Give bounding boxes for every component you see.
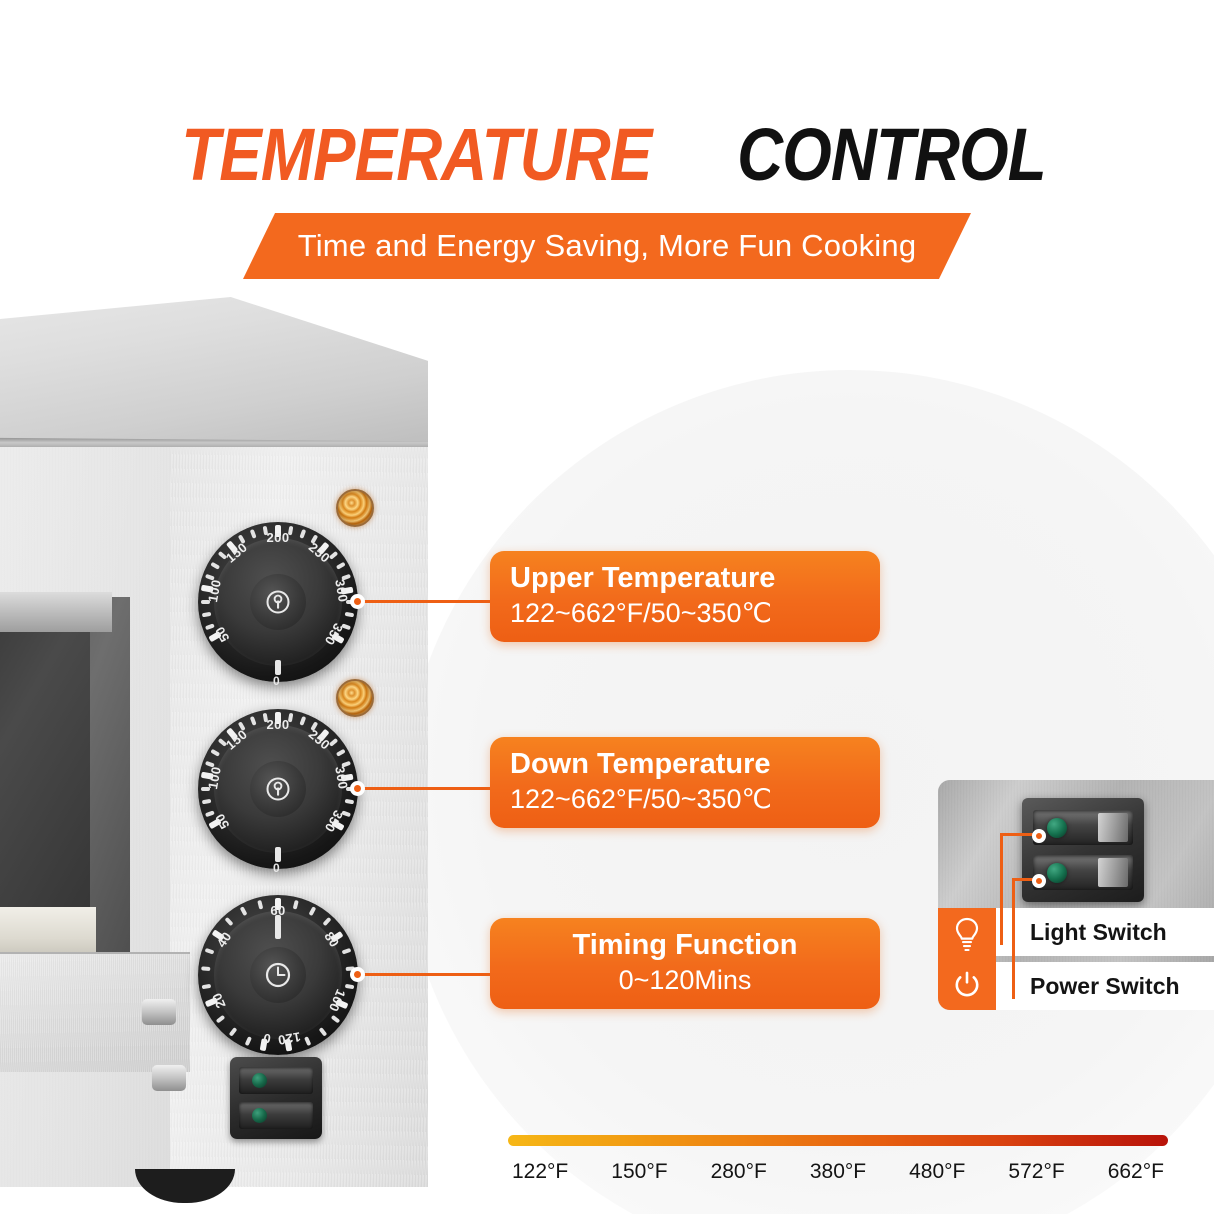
subtitle-text: Time and Energy Saving, More Fun Cooking [243,213,971,279]
callout-upper-temperature: Upper Temperature 122~662°F/50~350℃ [490,551,880,642]
knob-tick [225,917,234,926]
knob-tick [202,799,212,805]
inset-lead-h-power [1012,878,1034,881]
upper-temperature-knob[interactable]: 0 50100150200250300350 [198,522,358,682]
knob-scale-number: 300 [332,765,351,790]
oven-rocker-switch-assembly[interactable] [230,1057,322,1139]
temperature-scale-tick: 150°F [611,1160,667,1184]
power-switch-label-row: Power Switch [996,962,1214,1010]
lead-dot-upper [350,594,365,609]
inset-lead-v-light [1000,833,1003,945]
callout-subtitle: 122~662°F/50~350℃ [510,782,860,816]
knob-pointer [275,847,281,862]
knob-tick [229,1027,238,1037]
title-part-temperature: TEMPERATURE [181,112,651,198]
lead-line-down [357,787,493,790]
temperature-scale-tick: 122°F [512,1160,568,1184]
power-switch-label: Power Switch [1030,973,1180,1000]
knob-tick [240,906,248,916]
knob-scale-number: 0 [262,1030,272,1046]
callout-title: Timing Function [510,927,860,963]
oven-door-hinge [152,1065,186,1091]
callout-down-temperature: Down Temperature 122~662°F/50~350℃ [490,737,880,828]
knob-pointer [275,660,281,675]
thermostat-icon [263,774,293,804]
oven-foot [135,1169,235,1203]
inset-lead-dot-light [1032,829,1046,843]
knob-tick [201,966,210,971]
callout-subtitle: 0~120Mins [510,963,860,997]
light-switch-rocker[interactable] [239,1067,313,1094]
inset-lead-v-power [1012,878,1015,999]
knob-scale-number: 120 [277,1029,302,1048]
power-switch-rocker[interactable] [239,1102,313,1129]
temperature-scale-tick: 662°F [1108,1160,1164,1184]
knob-tick [299,716,306,726]
knob-hub [250,761,306,817]
switch-detail-panel: Light Switch Power Switch [938,780,1214,1010]
inset-lead-dot-power [1032,874,1046,888]
rocker-tongue [1098,813,1128,842]
knob-tick [309,906,317,916]
upper-indicator-lamp [336,489,374,527]
knob-tick [202,612,212,618]
power-switch-rocker[interactable] [1033,855,1133,890]
knob-tick [304,1036,311,1046]
knob-zero-label: 0 [273,674,280,688]
knob-scale-number: 200 [267,717,290,732]
light-bulb-icon-cell [938,908,996,959]
light-switch-led [252,1073,267,1088]
lead-dot-timer [350,967,365,982]
oven-door-hinge [142,999,176,1025]
knob-tick [245,1036,252,1046]
light-switch-rocker[interactable] [1033,810,1133,845]
light-bulb-icon [952,916,982,952]
light-switch-label-row: Light Switch [996,908,1214,956]
lead-line-timer [357,973,493,976]
knob-tick [216,1015,226,1024]
knob-tick [210,749,220,757]
lead-dot-down [350,781,365,796]
knob-scale-number: 60 [270,903,285,918]
switch-icon-column [938,908,996,1010]
knob-tick [342,948,352,955]
light-switch-led [1047,818,1067,838]
knob-tick [202,984,212,989]
lead-line-upper [357,600,493,603]
temperature-scale-tick: 572°F [1008,1160,1064,1184]
power-icon-cell [938,959,996,1010]
temperature-scale-tick: 280°F [711,1160,767,1184]
oven-door-glass [0,592,112,632]
knob-tick [336,562,346,570]
power-switch-led [252,1108,267,1123]
knob-hub [250,947,306,1003]
temperature-scale-tick: 380°F [810,1160,866,1184]
knob-tick [331,1015,341,1024]
knob-tick [345,799,355,805]
callout-timing-function: Timing Function 0~120Mins [490,918,880,1009]
knob-tick [322,917,331,926]
temperature-scale: 122°F150°F280°F380°F480°F572°F662°F [508,1135,1168,1184]
knob-tick [210,562,220,570]
power-icon [951,969,983,1001]
power-switch-led [1047,863,1067,883]
knob-tick [336,749,346,757]
inset-lead-h-light [1000,833,1034,836]
callout-subtitle: 122~662°F/50~350℃ [510,596,860,630]
knob-tick [250,716,257,726]
page-title: TEMPERATURECONTROL [0,112,1214,198]
knob-tick [299,529,306,539]
knob-zero-label: 0 [273,861,280,875]
oven-product-image: 0 50100150200250300350 0 501001502002503… [0,297,440,1187]
knob-tick [250,529,257,539]
knob-tick [293,900,299,910]
infographic-canvas: TEMPERATURECONTROL Time and Energy Savin… [0,0,1214,1214]
knob-scale-number: 200 [267,530,290,545]
thermostat-icon [263,587,293,617]
knob-tick [319,1027,328,1037]
switch-label-rows: Light Switch Power Switch [996,908,1214,1010]
temperature-scale-tick: 480°F [909,1160,965,1184]
knob-pointer [275,915,281,939]
knob-hub [250,574,306,630]
knob-tick [205,948,215,955]
knob-tick [345,984,355,989]
temperature-scale-labels: 122°F150°F280°F380°F480°F572°F662°F [508,1160,1168,1184]
down-temperature-knob[interactable]: 0 50100150200250300350 [198,709,358,869]
timer-knob[interactable]: 020406080100120 [198,895,358,1055]
rocker-tongue [1098,858,1128,887]
knob-tick [345,612,355,618]
down-indicator-lamp [336,679,374,717]
knob-tick [257,900,263,910]
subtitle-banner: Time and Energy Saving, More Fun Cooking [243,213,971,279]
title-part-control: CONTROL [737,112,1046,198]
clock-icon [262,959,294,991]
light-switch-label: Light Switch [1030,919,1167,946]
knob-scale-number: 300 [332,578,351,603]
oven-top-surface [0,297,428,449]
callout-title: Down Temperature [510,746,860,782]
callout-title: Upper Temperature [510,560,860,596]
temperature-gradient-bar [508,1135,1168,1146]
